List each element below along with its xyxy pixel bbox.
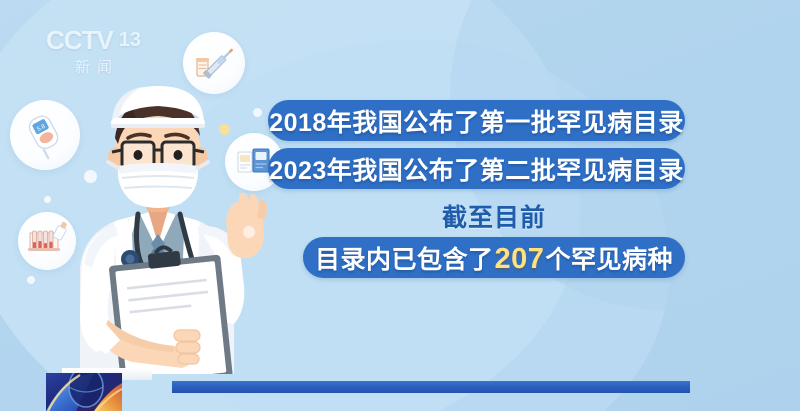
statement-suffix: 个罕见病种 — [545, 246, 673, 274]
statement-banner: 目录内已包含了207个罕见病种 — [303, 237, 685, 278]
headline-banner-2: 2023年我国公布了第二批罕见病目录 — [268, 148, 685, 189]
doctor-illustration — [62, 74, 277, 374]
statement-lead-text: 截至目前 — [442, 198, 546, 234]
globe-swoosh-glyph — [46, 373, 122, 411]
headline-banner-2-text: 2023年我国公布了第二批罕见病目录 — [269, 151, 684, 187]
decorative-dot-4 — [27, 276, 35, 284]
statement-prefix: 目录内已包含了 — [315, 246, 494, 274]
lower-third-bar — [172, 381, 690, 393]
headline-banner-1-text: 2018年我国公布了第一批罕见病目录 — [269, 103, 684, 139]
lower-third-globe-graphic — [46, 373, 122, 411]
doctor-figure — [62, 74, 277, 374]
decorative-dot-2 — [44, 196, 51, 203]
statement-count: 207 — [494, 243, 546, 275]
statement-banner-text: 目录内已包含了207个罕见病种 — [315, 240, 673, 276]
headline-banner-1: 2018年我国公布了第一批罕见病目录 — [268, 100, 685, 141]
statement-lead-line: 截至目前 — [303, 200, 685, 231]
broadcast-frame: CCTV 13 新闻 5.8 — [0, 0, 800, 411]
